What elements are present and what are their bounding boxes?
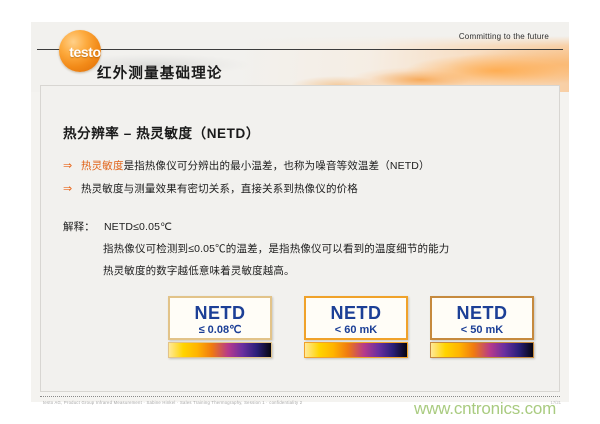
bullet-2-text: 热灵敏度与测量效果有密切关系，直接关系到热像仪的价格	[81, 183, 358, 195]
slide: testo Committing to the future 红外测量基础理论 …	[31, 22, 569, 402]
netd-card-1-value: ≤ 0.08℃	[172, 323, 268, 337]
netd-card-3-value: < 50 mK	[434, 323, 530, 337]
netd-card-2: NETD < 60 mK	[304, 296, 408, 358]
slide-title: 红外测量基础理论	[97, 62, 223, 83]
footer-divider	[40, 396, 560, 397]
bullet-1-text: 是指热像仪可分辨出的最小温差，也称为噪音等效温差（NETD）	[124, 160, 430, 172]
slide-body-panel: 热分辨率 – 热灵敏度（NETD） ⇒热灵敏度是指热像仪可分辨出的最小温差，也称…	[40, 85, 560, 392]
slide-header: testo Committing to the future 红外测量基础理论	[31, 22, 569, 92]
explanation-detail-1: 指热像仪可检测到≤0.05℃的温差，是指热像仪可以看到的温度细节的能力	[103, 241, 449, 256]
netd-card-2-box: NETD < 60 mK	[304, 296, 408, 340]
brand-tagline: Committing to the future	[459, 32, 549, 41]
bullet-arrow-icon: ⇒	[63, 182, 81, 195]
explanation-line: 解释：NETD≤0.05℃	[63, 219, 172, 234]
explanation-label: 解释：	[63, 221, 95, 233]
testo-logo-wordmark: testo	[57, 44, 113, 60]
netd-card-3: NETD < 50 mK	[430, 296, 534, 358]
netd-card-3-colorbar	[430, 342, 534, 358]
netd-card-2-value: < 60 mK	[308, 323, 404, 337]
netd-card-1-colorbar	[168, 342, 272, 358]
footer-text: testo AG, Product Group Infrared Measure…	[43, 400, 302, 405]
netd-card-group: NETD ≤ 0.08℃ NETD < 60 mK NETD < 50	[63, 296, 539, 366]
netd-card-2-colorbar	[304, 342, 408, 358]
explanation-detail-2: 热灵敏度的数字越低意味着灵敏度越高。	[103, 263, 295, 278]
header-divider-rule	[37, 49, 563, 50]
section-heading: 热分辨率 – 热灵敏度（NETD）	[63, 122, 260, 142]
netd-card-3-box: NETD < 50 mK	[430, 296, 534, 340]
watermark: www.cntronics.com	[414, 399, 556, 419]
screenshot-canvas: testo Committing to the future 红外测量基础理论 …	[0, 0, 600, 424]
explanation-value: NETD≤0.05℃	[104, 221, 172, 233]
netd-card-1-box: NETD ≤ 0.08℃	[168, 296, 272, 340]
netd-card-2-title: NETD	[308, 303, 404, 323]
bullet-arrow-icon: ⇒	[63, 159, 81, 172]
netd-card-3-title: NETD	[434, 303, 530, 323]
bullet-1-highlight: 热灵敏度	[81, 160, 124, 172]
netd-card-1-title: NETD	[172, 303, 268, 323]
netd-card-1: NETD ≤ 0.08℃	[168, 296, 272, 358]
bullet-item-1: ⇒热灵敏度是指热像仪可分辨出的最小温差，也称为噪音等效温差（NETD）	[63, 158, 430, 173]
bullet-item-2: ⇒热灵敏度与测量效果有密切关系，直接关系到热像仪的价格	[63, 181, 358, 196]
